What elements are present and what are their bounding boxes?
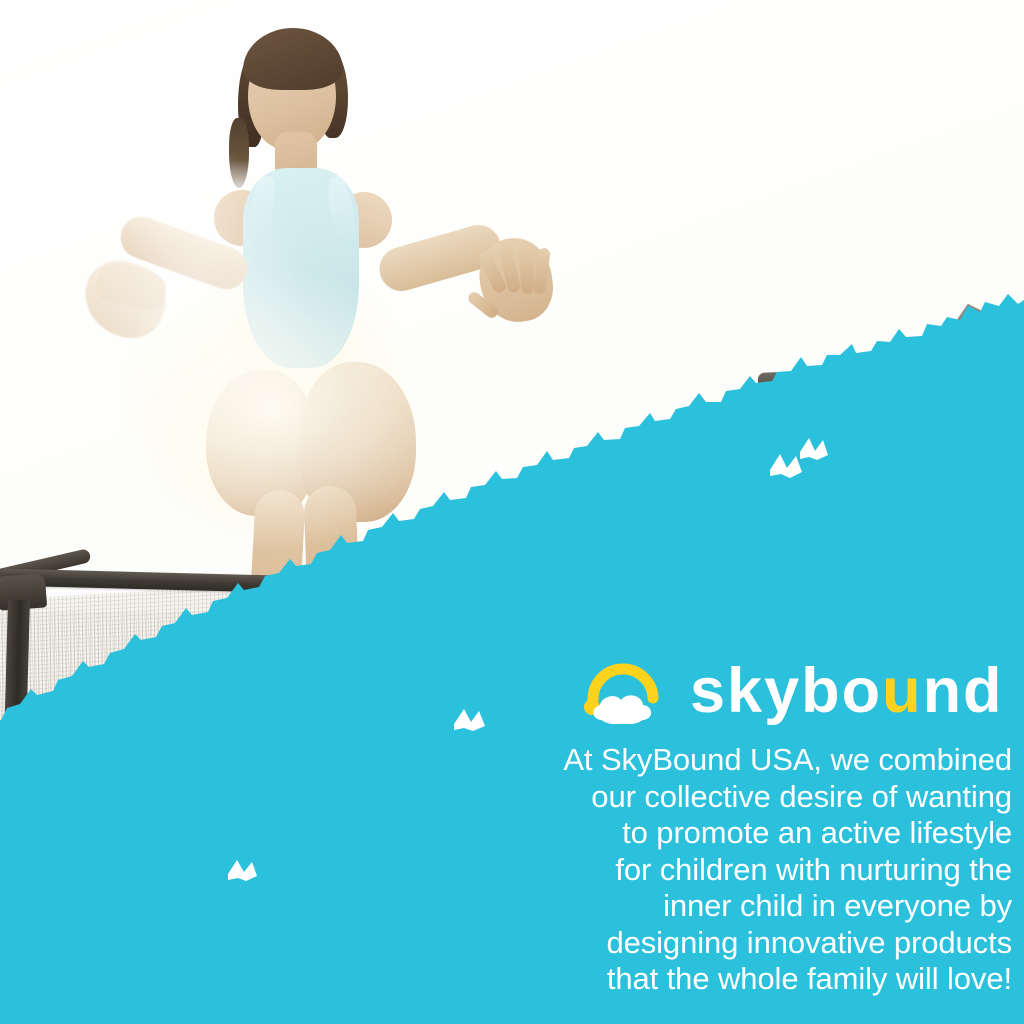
skybound-logo[interactable]: skybound [584, 658, 1004, 724]
logo-wordmark: skybound [690, 660, 1004, 723]
tagline-paragraph: At SkyBound USA, we combined our collect… [436, 742, 1012, 998]
tagline-line-5: inner child in everyone by [436, 888, 1012, 925]
logo-word-part2: nd [923, 656, 1004, 726]
tagline-line-2: our collective desire of wanting [436, 779, 1012, 816]
logo-word-highlight-u: u [882, 656, 922, 726]
tagline-line-6: designing innovative products [436, 925, 1012, 962]
tagline-line-1: At SkyBound USA, we combined [436, 742, 1012, 779]
tagline-line-3: to promote an active lifestyle [436, 815, 1012, 852]
sun-cloud-icon [584, 658, 666, 724]
tagline-line-4: for children with nurturing the [436, 852, 1012, 889]
skybound-brand-poster: skybound At SkyBound USA, we combined ou… [0, 0, 1024, 1024]
tagline-line-7: that the whole family will love! [436, 961, 1012, 998]
logo-word-part1: skybo [690, 656, 882, 726]
